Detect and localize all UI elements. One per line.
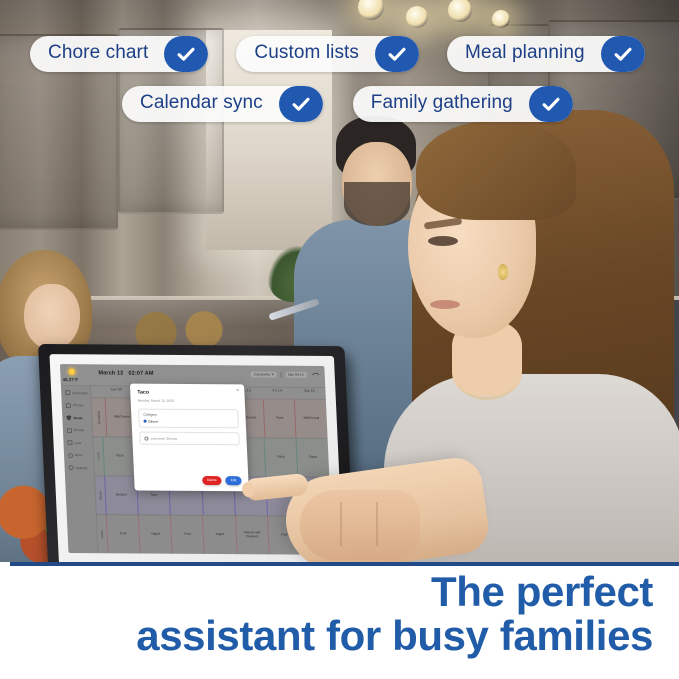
prep-time-field[interactable]: prep time: 30mins: [139, 432, 240, 446]
sun-icon: [68, 368, 75, 375]
bottom-band: The perfect assistant for busy families: [0, 566, 679, 679]
meal-cell[interactable]: Pasta: [295, 439, 329, 477]
modal-subtitle: Monday, March 10, 2025: [138, 398, 238, 403]
header-controls: Categories Mar 09-15: [251, 371, 319, 377]
category-value-row: Dinner: [144, 419, 234, 424]
meal-cell[interactable]: Fruit: [170, 516, 204, 554]
sidebar-item-more[interactable]: More: [66, 453, 91, 458]
check-icon: [164, 36, 208, 72]
sidebar-item-reminders[interactable]: Reminders: [63, 390, 88, 395]
categories-dropdown[interactable]: Categories: [251, 371, 277, 377]
sidebar-item-meals[interactable]: Meals: [64, 415, 89, 420]
delete-button[interactable]: Delete: [202, 476, 222, 485]
photo-icon: [67, 428, 72, 433]
meal-cell[interactable]: Toast: [263, 399, 296, 437]
sidebar-item-label: Reminders: [72, 391, 88, 395]
check-icon: [601, 36, 645, 72]
check-icon: [279, 86, 323, 122]
meal-cell[interactable]: Yogurt: [202, 516, 236, 554]
left-white-strip: [0, 562, 10, 679]
feature-pill: Calendar sync: [122, 86, 323, 122]
pendant-light: [492, 10, 510, 28]
tagline-line-2: assistant for busy families: [136, 614, 653, 658]
meal-row-label-text: Lunch: [96, 452, 100, 460]
hand-knuckles: [300, 490, 420, 560]
feature-pill: Chore chart: [30, 36, 208, 72]
meal-cell[interactable]: Pizza: [102, 437, 136, 475]
day-header[interactable]: Sat 15: [293, 389, 325, 393]
sidebar-item-label: Meals: [73, 416, 82, 420]
chevron-down-icon: [272, 374, 274, 376]
meal-cell[interactable]: Fruit: [106, 515, 140, 553]
feature-pill-label: Chore chart: [30, 36, 164, 72]
divider: [281, 372, 282, 378]
feature-pills-top-row: Chore chartCustom listsMeal planning: [30, 36, 645, 72]
sidebar-item-chores[interactable]: Chores: [64, 403, 89, 408]
feature-pills-bottom-row: Calendar syncFamily gathering: [122, 86, 573, 122]
day-header-label: Sun 09: [110, 387, 122, 391]
time-text: 02:07 AM: [128, 371, 153, 377]
prep-time-text: prep time: 30mins: [151, 436, 177, 440]
sidebar-item-label: Lists: [74, 441, 81, 445]
datetime-display: March 12 02:07 AM: [98, 370, 154, 376]
categories-label: Categories: [254, 372, 271, 376]
temperature-readout: 48.27°F: [63, 377, 79, 382]
meal-row-label-text: Snack: [100, 530, 104, 539]
feature-pill: Family gathering: [353, 86, 573, 122]
pendant-light: [406, 6, 428, 28]
sidebar-item-settings[interactable]: Settings: [67, 465, 92, 470]
sidebar-item-lists[interactable]: Lists: [65, 440, 90, 445]
meal-cell[interactable]: Pizza: [263, 438, 297, 476]
wifi-icon[interactable]: [311, 372, 319, 378]
sidebar-item-photos[interactable]: Photos: [65, 428, 90, 433]
meal-row-label-text: Dinner: [98, 491, 102, 500]
meal-row-label-text: Breakfast: [97, 411, 102, 424]
feature-pill-label: Calendar sync: [122, 86, 279, 122]
sidebar-item-label: More: [75, 453, 83, 457]
feature-pill: Meal planning: [447, 36, 645, 72]
edit-button[interactable]: Edit: [225, 476, 241, 485]
feature-pill-label: Custom lists: [236, 36, 375, 72]
meal-cell[interactable]: Yogurt: [138, 515, 172, 553]
day-header-label: Sat 15: [304, 389, 315, 393]
modal-title: Taco: [137, 390, 237, 397]
clock-icon: [144, 436, 148, 440]
plus-icon: [68, 453, 73, 458]
gear-icon: [69, 465, 74, 470]
meal-detail-modal[interactable]: ✕ Taco Monday, March 10, 2025 Category D…: [130, 384, 249, 492]
note-icon: [65, 390, 70, 395]
feature-pill-label: Meal planning: [447, 36, 601, 72]
list-icon: [67, 440, 72, 445]
sidebar-item-label: Settings: [76, 466, 88, 470]
tagline: The perfect assistant for busy families: [136, 570, 653, 658]
feature-pill: Custom lists: [236, 36, 419, 72]
date-text: March 12: [98, 370, 123, 376]
modal-actions: Delete Edit: [202, 476, 242, 485]
check-icon: [375, 36, 419, 72]
date-range-label: Mar 09-15: [288, 373, 304, 377]
date-range-selector[interactable]: Mar 09-15: [285, 372, 307, 378]
tagline-line-1: The perfect: [431, 568, 653, 615]
sidebar-item-label: Photos: [74, 428, 84, 432]
feature-pill-label: Family gathering: [353, 86, 529, 122]
family-icon: [66, 415, 71, 420]
category-label: Category: [143, 413, 233, 418]
day-header[interactable]: Fri 14: [261, 388, 293, 392]
day-header[interactable]: Sun 09: [100, 387, 132, 391]
check-icon: [529, 86, 573, 122]
kitchen-photo: 48.27°F March 12 02:07 AM Categories: [0, 0, 679, 564]
meal-cell[interactable]: Milk/Cereal: [294, 400, 327, 438]
category-panel: Category Dinner: [138, 408, 239, 428]
meal-cell[interactable]: Burgers: [104, 476, 138, 514]
sidebar-item-label: Chores: [73, 403, 84, 407]
close-icon[interactable]: ✕: [236, 388, 240, 392]
meal-cell[interactable]: Cheese and Crackers: [235, 516, 269, 554]
broom-icon: [66, 403, 71, 408]
category-value: Dinner: [148, 419, 158, 423]
day-header-label: Fri 14: [272, 389, 282, 393]
category-color-dot: [144, 420, 147, 423]
